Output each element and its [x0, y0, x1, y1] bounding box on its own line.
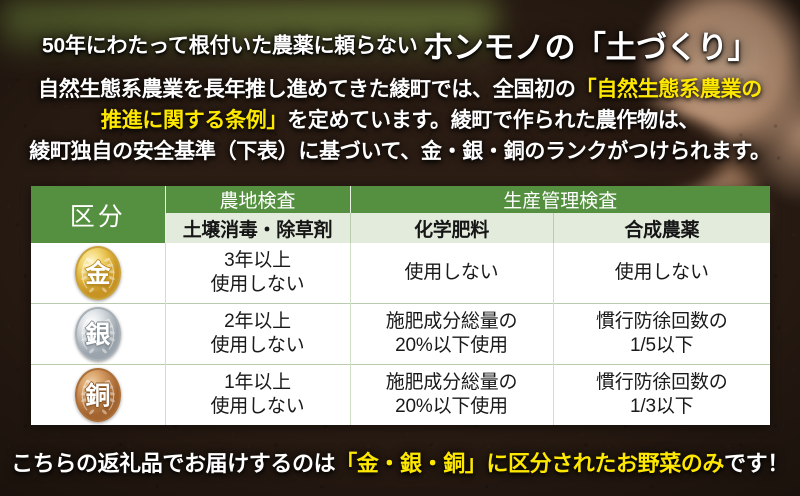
headline-emphasis-text: ホンモノの「土づくり」	[423, 30, 759, 65]
bronze-medal-icon: 銅	[75, 368, 121, 422]
footer-yellow: 「金・銀・銅」に区分されたお野菜のみ	[335, 451, 724, 476]
header-sub-soil: 土壌消毒・除草剤	[165, 213, 350, 243]
cell-silver-pesticide-line2: 1/5以下	[630, 335, 693, 356]
cell-bronze-soil: 1年以上 使用しない	[165, 365, 350, 426]
silver-medal-icon: 銀	[75, 307, 121, 361]
bronze-medal-label: 銅	[85, 383, 110, 408]
table-row: 銅 1年以上 使用しない 施肥成分総量の 20%以下使用 慣行防徐回数の 1/3…	[31, 365, 770, 426]
header-kubun: 区分	[31, 186, 165, 243]
cell-silver-soil: 2年以上 使用しない	[165, 304, 350, 365]
cell-silver-pesticide-line1: 慣行防徐回数の	[596, 311, 728, 332]
cell-silver-pesticide: 慣行防徐回数の 1/5以下	[553, 304, 770, 365]
cell-gold-pesticide: 使用しない	[553, 243, 770, 304]
cell-gold-soil-line2: 使用しない	[210, 274, 304, 295]
cell-silver-soil-line2: 使用しない	[210, 335, 304, 356]
header-group-production: 生産管理検査	[350, 186, 770, 213]
cell-gold-soil-line1: 3年以上	[224, 250, 291, 271]
footer-caption: こちらの返礼品でお届けするのは「金・銀・銅」に区分されたお野菜のみです！	[0, 446, 800, 478]
lead-paragraph: 自然生態系農業を長年推し進めてきた綾町では、全国初の「自然生態系農業の 推進に関…	[0, 74, 800, 167]
silver-medal-label: 銀	[85, 322, 110, 347]
lead-line-3-white: 綾町独自の安全基準（下表）に基づいて、金・銀・銅のランクがつけられます。	[29, 140, 770, 163]
cell-gold-fertilizer: 使用しない	[350, 243, 553, 304]
cell-silver-fertilizer: 施肥成分総量の 20%以下使用	[350, 304, 553, 365]
cell-bronze-fertilizer-line1: 施肥成分総量の	[386, 372, 518, 393]
cell-silver-fertilizer-line2: 20%以下使用	[395, 335, 508, 356]
cell-bronze-soil-line2: 使用しない	[210, 396, 304, 417]
rank-cell-bronze: 銅	[31, 365, 165, 426]
footer-white-end: です！	[724, 451, 789, 476]
safety-standard-table: 区分 農地検査 生産管理検査 土壌消毒・除草剤 化学肥料 合成農薬	[31, 186, 770, 425]
cell-bronze-fertilizer: 施肥成分総量の 20%以下使用	[350, 365, 553, 426]
footer-white-start: こちらの返礼品でお届けするのは	[11, 451, 335, 476]
headline: 50年にわたって根付いた農薬に頼らないホンモノの「土づくり」	[0, 22, 800, 67]
lead-line-2-white: を定めています。綾町で作られた農作物は、	[287, 109, 699, 132]
lead-line-1-white: 自然生態系農業を長年推し進めてきた綾町では、全国初の	[38, 78, 576, 101]
cell-silver-fertilizer-line1: 施肥成分総量の	[386, 311, 518, 332]
table-row: 銀 2年以上 使用しない 施肥成分総量の 20%以下使用 慣行防徐回数の 1/5…	[31, 304, 770, 365]
cell-bronze-pesticide-line1: 慣行防徐回数の	[596, 372, 728, 393]
header-sub-fertilizer: 化学肥料	[350, 213, 553, 243]
rank-cell-gold: 金	[31, 243, 165, 304]
lead-line-2: 推進に関する条例」を定めています。綾町で作られた農作物は、	[0, 105, 800, 136]
rank-cell-silver: 銀	[31, 304, 165, 365]
table-header-group-row: 区分 農地検査 生産管理検査	[31, 186, 770, 213]
lead-line-3: 綾町独自の安全基準（下表）に基づいて、金・銀・銅のランクがつけられます。	[0, 136, 800, 167]
lead-line-2-yellow: 推進に関する条例」	[101, 109, 287, 132]
cell-gold-soil: 3年以上 使用しない	[165, 243, 350, 304]
cell-bronze-fertilizer-line2: 20%以下使用	[395, 396, 508, 417]
cell-bronze-pesticide-line2: 1/3以下	[630, 396, 693, 417]
header-sub-pesticide: 合成農薬	[553, 213, 770, 243]
lead-line-1-yellow: 「自然生態系農業の	[576, 78, 762, 101]
cell-bronze-soil-line1: 1年以上	[224, 372, 291, 393]
header-group-farmland: 農地検査	[165, 186, 350, 213]
cell-gold-pesticide-line1: 使用しない	[615, 262, 709, 283]
cell-silver-soil-line1: 2年以上	[224, 311, 291, 332]
gold-medal-label: 金	[85, 261, 110, 286]
lead-line-1: 自然生態系農業を長年推し進めてきた綾町では、全国初の「自然生態系農業の	[0, 74, 800, 105]
headline-lead-text: 50年にわたって根付いた農薬に頼らない	[42, 35, 418, 58]
gold-medal-icon: 金	[75, 246, 121, 300]
table-row: 金 3年以上 使用しない 使用しない 使用しない	[31, 243, 770, 304]
cell-bronze-pesticide: 慣行防徐回数の 1/3以下	[553, 365, 770, 426]
cell-gold-fertilizer-line1: 使用しない	[404, 262, 498, 283]
